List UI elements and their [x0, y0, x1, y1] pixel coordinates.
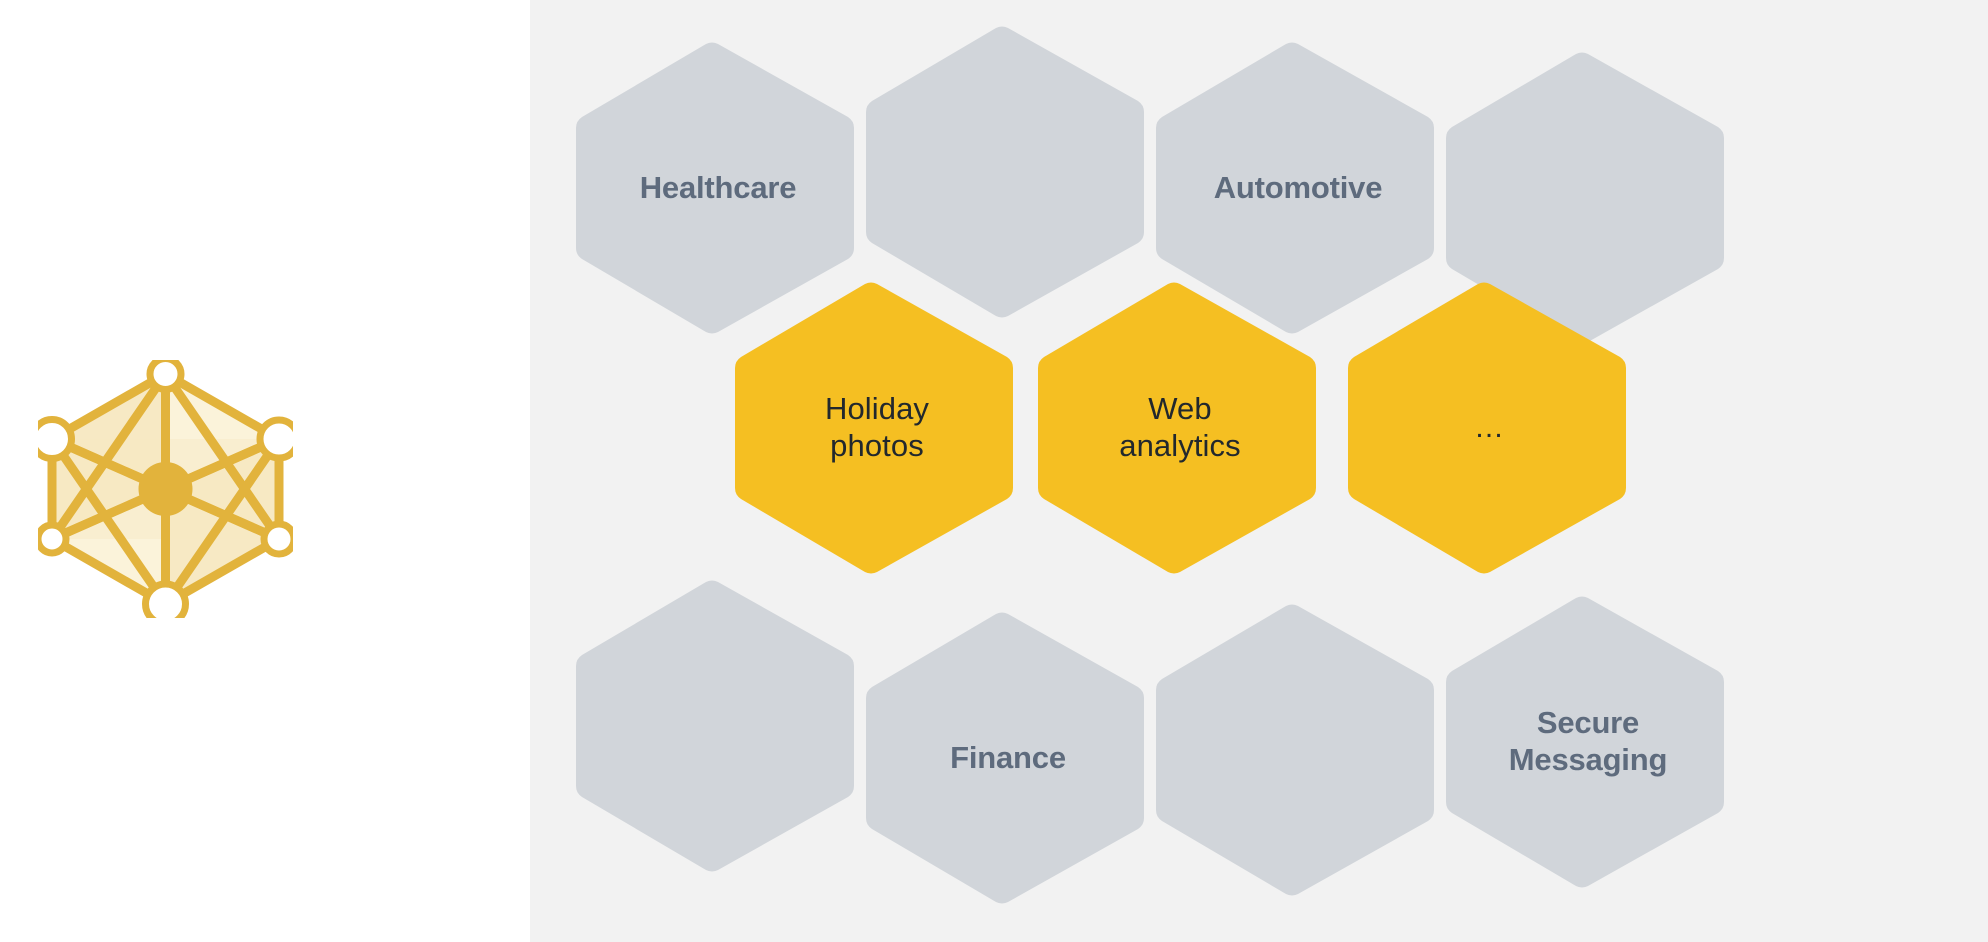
hex-label: Automotive	[1180, 170, 1417, 207]
hex-cell-blank-bottom-1[interactable]	[576, 576, 860, 876]
hex-cell-finance[interactable]: Finance	[866, 608, 1150, 908]
icon-center-node	[139, 462, 193, 516]
right-panel: Healthcare Automotive	[530, 0, 1988, 942]
hex-cell-holiday-photos[interactable]: Holiday photos	[735, 278, 1019, 578]
hexagon-shape	[576, 576, 860, 876]
hexagon-shape	[1156, 600, 1440, 900]
network-graph-icon	[38, 360, 293, 618]
hex-label: Web analytics	[1085, 391, 1275, 464]
page-root: Healthcare Automotive	[0, 0, 1988, 942]
hexagon-grid: Healthcare Automotive	[530, 0, 1988, 942]
hex-label: Finance	[916, 740, 1100, 777]
hex-cell-blank-bottom-3[interactable]	[1156, 600, 1440, 900]
hex-cell-web-analytics[interactable]: Web analytics	[1038, 278, 1322, 578]
hex-cell-more[interactable]: …	[1348, 278, 1632, 578]
hex-label-ellipsis: …	[1440, 410, 1540, 445]
hexagon-shape	[866, 22, 1150, 322]
hex-label: Holiday photos	[791, 391, 963, 464]
left-panel	[0, 0, 530, 942]
hex-label: Healthcare	[606, 170, 831, 207]
hex-cell-blank-top-2[interactable]	[866, 22, 1150, 322]
hex-cell-secure-messaging[interactable]: Secure Messaging	[1446, 592, 1730, 892]
hex-label: Secure Messaging	[1475, 705, 1701, 778]
